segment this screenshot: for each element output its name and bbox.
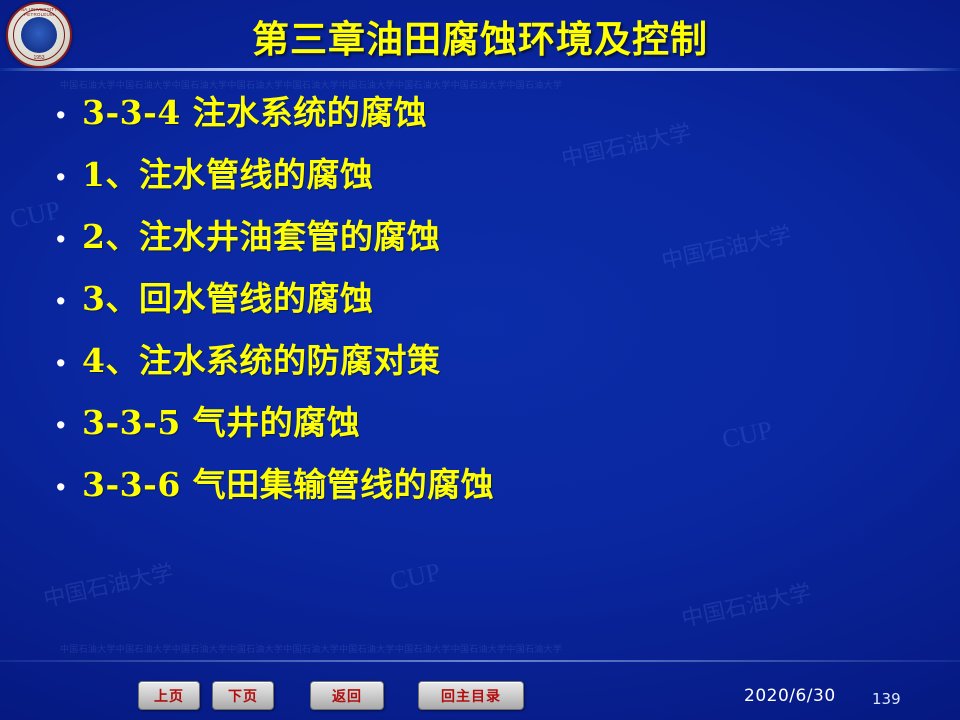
date-text: 2020/6/30 <box>744 686 836 706</box>
bullet-text: 1、注水管线的腐蚀 <box>82 148 373 196</box>
bullet-marker-icon: • <box>48 102 82 129</box>
bullet-text: 2、注水井油套管的腐蚀 <box>82 210 440 258</box>
list-item: • 3-3-5 气井的腐蚀 <box>48 396 928 458</box>
list-item: • 3-3-4 注水系统的腐蚀 <box>48 86 928 148</box>
next-page-label: 下页 <box>228 686 258 706</box>
bullet-marker-icon: • <box>48 474 82 501</box>
bullet-marker-icon: • <box>48 226 82 253</box>
bullet-marker-icon: • <box>48 164 82 191</box>
bullet-text: 3-3-6 气田集输管线的腐蚀 <box>82 458 494 506</box>
bullet-marker-icon: • <box>48 288 82 315</box>
watermark-mark-g: CUP <box>387 557 443 597</box>
main-menu-label: 回主目录 <box>441 686 501 706</box>
list-item: • 3-3-6 气田集输管线的腐蚀 <box>48 458 928 520</box>
title-bar: 第三章油田腐蚀环境及控制 <box>0 0 960 72</box>
main-menu-button[interactable]: 回主目录 <box>418 681 524 710</box>
back-button[interactable]: 返回 <box>310 681 384 710</box>
list-item: • 1、注水管线的腐蚀 <box>48 148 928 210</box>
bullet-list: • 3-3-4 注水系统的腐蚀 • 1、注水管线的腐蚀 • 2、注水井油套管的腐… <box>48 86 928 520</box>
list-item: • 4、注水系统的防腐对策 <box>48 334 928 396</box>
slide: 中国石油大学中国石油大学中国石油大学中国石油大学中国石油大学中国石油大学中国石油… <box>0 0 960 720</box>
watermark-mark-e: 中国石油大学 <box>40 555 176 614</box>
page-title: 第三章油田腐蚀环境及控制 <box>0 9 960 63</box>
university-logo-icon: CHINA UNIVERSITY OF PETROLEUM 1953 <box>6 2 72 68</box>
page-number: 139 <box>872 690 901 708</box>
logo-arc-text: CHINA UNIVERSITY OF PETROLEUM <box>8 7 70 17</box>
bullet-text: 3、回水管线的腐蚀 <box>82 272 373 320</box>
logo-inner-emblem <box>21 17 57 53</box>
prev-page-label: 上页 <box>154 686 184 706</box>
list-item: • 2、注水井油套管的腐蚀 <box>48 210 928 272</box>
bullet-text: 4、注水系统的防腐对策 <box>82 334 440 382</box>
bullet-marker-icon: • <box>48 350 82 377</box>
logo-year: 1953 <box>8 55 70 61</box>
back-label: 返回 <box>332 686 362 706</box>
watermark-mark-f: 中国石油大学 <box>678 575 814 634</box>
footer-divider <box>0 660 960 662</box>
title-divider <box>0 68 960 71</box>
watermark-bottom-line: 中国石油大学中国石油大学中国石油大学中国石油大学中国石油大学中国石油大学中国石油… <box>60 642 562 655</box>
bullet-text: 3-3-4 注水系统的腐蚀 <box>82 86 427 134</box>
bullet-marker-icon: • <box>48 412 82 439</box>
bullet-text: 3-3-5 气井的腐蚀 <box>82 396 360 444</box>
next-page-button[interactable]: 下页 <box>212 681 274 710</box>
prev-page-button[interactable]: 上页 <box>138 681 200 710</box>
list-item: • 3、回水管线的腐蚀 <box>48 272 928 334</box>
